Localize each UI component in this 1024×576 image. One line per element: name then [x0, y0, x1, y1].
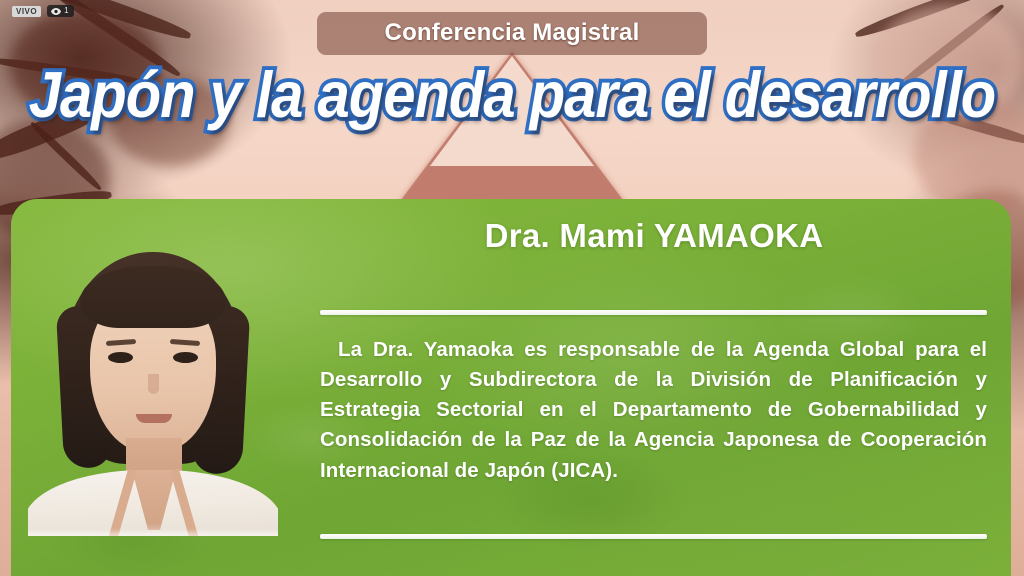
portrait-eye-right	[173, 352, 198, 363]
portrait-eye-left	[108, 352, 133, 363]
kicker-pill: Conferencia Magistral	[317, 12, 707, 55]
broadcast-slide: VIVO 1 Conferencia Magistral Japón y la …	[0, 0, 1024, 576]
kicker-label: Conferencia Magistral	[347, 19, 677, 47]
avatar	[28, 248, 278, 536]
portrait-mouth	[136, 414, 172, 423]
viewer-count-badge: 1	[47, 5, 73, 17]
portrait-nose	[148, 374, 159, 394]
speaker-name: Dra. Mami YAMAOKA	[320, 217, 988, 255]
divider-top	[320, 310, 987, 315]
page-title: Japón y la agenda para el desarrollo	[0, 62, 1024, 130]
portrait-fringe	[80, 266, 226, 328]
divider-bottom	[320, 534, 987, 539]
eye-icon	[51, 8, 61, 15]
portrait-crop-edge	[28, 532, 278, 536]
stream-status-badges: VIVO 1	[12, 5, 74, 17]
speaker-bio: La Dra. Yamaoka es responsable de la Age…	[320, 335, 987, 486]
viewer-count-value: 1	[64, 7, 68, 15]
live-badge: VIVO	[12, 6, 41, 17]
